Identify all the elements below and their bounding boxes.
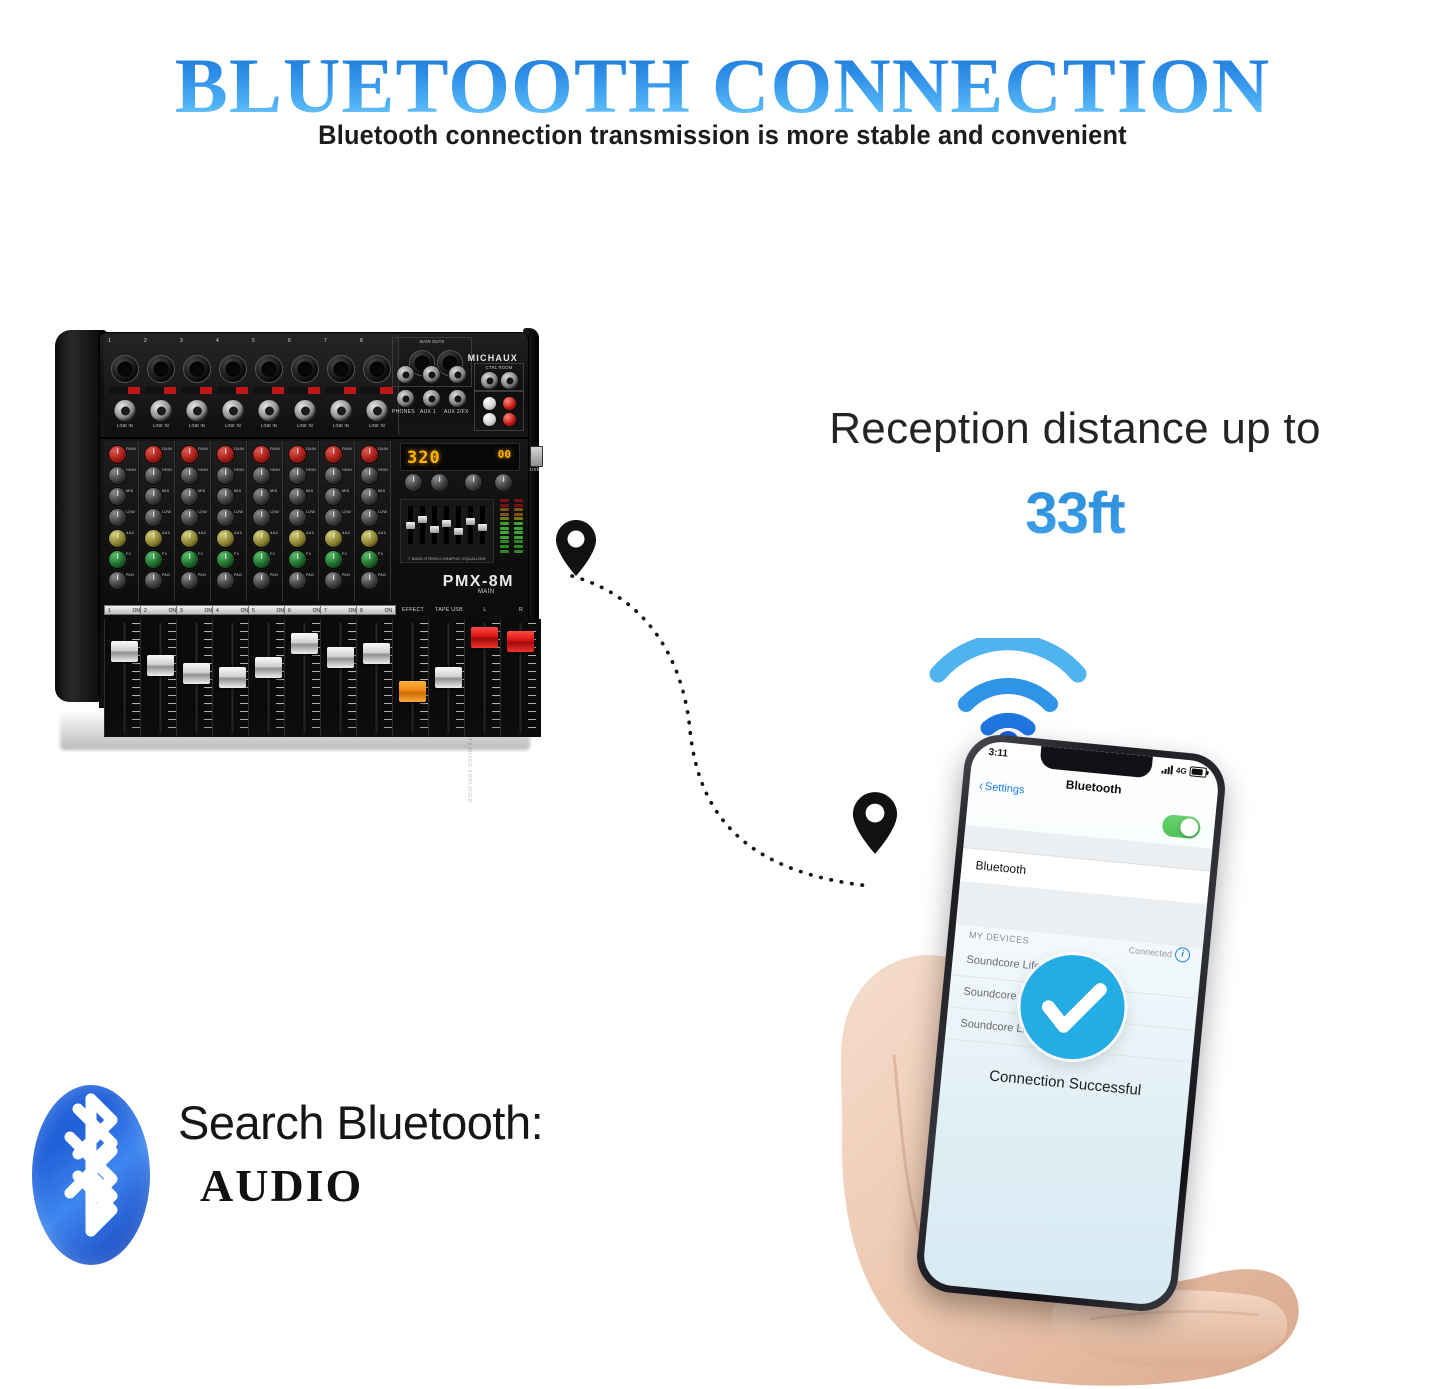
strip-number: 4 xyxy=(216,338,219,344)
knob-fx[interactable] xyxy=(252,550,271,569)
knob-gain[interactable] xyxy=(288,445,307,464)
xlr-input-jack xyxy=(219,355,247,383)
knob-label: AUX xyxy=(198,531,206,535)
line-input-jack xyxy=(114,399,137,422)
knob-low[interactable] xyxy=(144,508,163,527)
search-bluetooth-label: Search Bluetooth: xyxy=(178,1097,658,1149)
mixer-brand-label: MICHAUX xyxy=(468,353,518,363)
ctrl-room-label: CTRL ROOM xyxy=(475,365,523,370)
knob-gain[interactable] xyxy=(180,445,199,464)
knob-label: GAIN xyxy=(198,447,208,451)
knob-label: FX xyxy=(234,552,239,556)
knob-label: PAN xyxy=(378,573,386,577)
eq-band-5[interactable] xyxy=(456,506,461,544)
knob-aux[interactable] xyxy=(144,529,163,548)
channel-knobs-2: GAINHIGHMIDLOWAUXFXPAN xyxy=(140,441,175,601)
mixer-input-panel: 1LINE IN2LINE IN3LINE IN4LINE IN5LINE IN… xyxy=(99,332,529,438)
eq-cap[interactable] xyxy=(478,524,487,531)
knob-gain[interactable] xyxy=(252,445,271,464)
reception-distance-label: Reception distance up to xyxy=(775,404,1375,454)
knob-low[interactable] xyxy=(180,508,199,527)
connected-status: Connected xyxy=(1128,945,1172,959)
fader-cap[interactable] xyxy=(399,681,426,702)
knob-label: LOW xyxy=(198,510,207,514)
knob-label: HIGH xyxy=(234,468,244,472)
eq-cap[interactable] xyxy=(454,528,463,535)
rca-2tk-right xyxy=(502,412,517,427)
bluetooth-toggle[interactable] xyxy=(1161,814,1201,840)
aux2-label: AUX 2/FX xyxy=(444,409,469,415)
knob-label: LOW xyxy=(342,510,351,514)
knob-label: GAIN xyxy=(378,447,388,451)
channel-on-button-4[interactable]: 4ON xyxy=(212,605,252,615)
pad-switch xyxy=(289,387,321,394)
knob-label: AUX xyxy=(126,531,134,535)
strip-number: 2 xyxy=(144,338,147,344)
eq-band-7[interactable] xyxy=(480,506,485,544)
knob-pan[interactable] xyxy=(324,571,343,590)
line-input-jack xyxy=(330,399,353,422)
line-input-jack xyxy=(186,399,209,422)
knob-label: AUX xyxy=(270,531,278,535)
knob-label: FX xyxy=(306,552,311,556)
fader-cap[interactable] xyxy=(471,627,498,648)
knob-low[interactable] xyxy=(324,508,343,527)
eq-band-4[interactable] xyxy=(444,506,449,544)
knob-label: HIGH xyxy=(270,468,280,472)
fader-cap[interactable] xyxy=(219,667,246,688)
knob-fx[interactable] xyxy=(180,550,199,569)
pad-switch xyxy=(325,387,357,394)
ctrl-room-box: CTRL ROOM xyxy=(474,363,524,391)
aux1-jack-b xyxy=(422,365,441,384)
knob-label: GAIN xyxy=(126,447,136,451)
pad-switch xyxy=(361,387,393,394)
channel-knobs-1: GAINHIGHMIDLOWAUXFXPAN xyxy=(104,441,139,601)
knob-mid[interactable] xyxy=(216,487,235,506)
channel-knobs-3: GAINHIGHMIDLOWAUXFXPAN xyxy=(176,441,211,601)
program-knob xyxy=(404,473,423,492)
eq-band-2[interactable] xyxy=(420,506,425,544)
knob-label: PAN xyxy=(126,573,134,577)
channel-knobs-5: GAINHIGHMIDLOWAUXFXPAN xyxy=(248,441,283,601)
knob-low[interactable] xyxy=(360,508,379,527)
knob-label: HIGH xyxy=(162,468,172,472)
pad-switch xyxy=(109,387,141,394)
rca-box xyxy=(474,391,524,431)
fader-cap[interactable] xyxy=(507,631,534,652)
main-label: MAIN xyxy=(478,589,494,595)
knob-label: GAIN xyxy=(342,447,352,451)
channel-knobs-7: GAINHIGHMIDLOWAUXFXPAN xyxy=(320,441,355,601)
knob-mid[interactable] xyxy=(144,487,163,506)
knob-pan[interactable] xyxy=(216,571,235,590)
line-in-label: LINE IN xyxy=(356,423,398,428)
knob-fx[interactable] xyxy=(324,550,343,569)
eq-cap[interactable] xyxy=(430,526,439,533)
knob-label: PAN xyxy=(234,573,242,577)
line-input-jack xyxy=(294,399,317,422)
knob-label: FX xyxy=(162,552,167,556)
knob-high[interactable] xyxy=(180,466,199,485)
knob-label: PAN xyxy=(270,573,278,577)
bluetooth-device-name: AUDIO xyxy=(200,1159,658,1212)
line-input-jack xyxy=(366,399,389,422)
knob-label: MID xyxy=(126,489,134,493)
fader-label: R xyxy=(501,607,541,613)
bluetooth-row-label: Bluetooth xyxy=(975,858,1027,877)
led-main-value: 320 xyxy=(407,448,441,468)
eq-band-3[interactable] xyxy=(432,506,437,544)
map-pin-icon-source xyxy=(555,519,597,577)
pad-switch xyxy=(217,387,249,394)
aux1-jack xyxy=(422,389,441,408)
network-type-label: 4G xyxy=(1176,765,1187,775)
channel-on-button-8[interactable]: 8ON xyxy=(356,605,396,615)
channel-on-button-5[interactable]: 5ON xyxy=(248,605,288,615)
signal-bars-icon xyxy=(1162,764,1174,774)
knob-fx[interactable] xyxy=(108,550,127,569)
page-subtitle: Bluetooth connection transmission is mor… xyxy=(43,120,1401,151)
knob-mid[interactable] xyxy=(324,487,343,506)
vu-meter-right xyxy=(514,499,523,561)
knob-label: PAN xyxy=(162,573,170,577)
knob-label: HIGH xyxy=(342,468,352,472)
knob-label: MID xyxy=(306,489,314,493)
knob-label: LOW xyxy=(270,510,279,514)
knob-low[interactable] xyxy=(252,508,271,527)
knob-gain[interactable] xyxy=(360,445,379,464)
knob-label: MID xyxy=(198,489,206,493)
check-mark-icon xyxy=(1016,950,1129,1063)
knob-pan[interactable] xyxy=(252,571,271,590)
xlr-input-jack xyxy=(363,355,391,383)
usb-label: USB xyxy=(530,467,540,472)
phones-jack xyxy=(396,389,415,408)
channel-on-button-7[interactable]: 7ON xyxy=(320,605,360,615)
xlr-input-jack xyxy=(147,355,175,383)
knob-low[interactable] xyxy=(216,508,235,527)
channel-on-button-1[interactable]: 1ON xyxy=(104,605,144,615)
knob-label: AUX xyxy=(306,531,314,535)
mixer-control-surface: GAINHIGHMIDLOWAUXFXPANGAINHIGHMIDLOWAUXF… xyxy=(99,438,529,708)
knob-pan[interactable] xyxy=(360,571,379,590)
phones-label: PHONES xyxy=(392,409,415,415)
pad-switch xyxy=(253,387,285,394)
strip-number: 1 xyxy=(108,338,111,344)
knob-label: LOW xyxy=(126,510,135,514)
battery-icon xyxy=(1189,766,1207,778)
my-devices-header: MY DEVICES xyxy=(969,930,1030,946)
knob-label: MID xyxy=(342,489,350,493)
knob-high[interactable] xyxy=(216,466,235,485)
fader-cap[interactable] xyxy=(111,641,138,662)
knob-gain[interactable] xyxy=(108,445,127,464)
rca-rec-left xyxy=(482,396,497,411)
knob-label: FX xyxy=(270,552,275,556)
knob-aux[interactable] xyxy=(324,529,343,548)
knob-label: AUX xyxy=(378,531,386,535)
knob-high[interactable] xyxy=(288,466,307,485)
knob-fx[interactable] xyxy=(216,550,235,569)
channel-on-button-2[interactable]: 2ON xyxy=(140,605,180,615)
eq-cap[interactable] xyxy=(466,518,475,525)
knob-label: GAIN xyxy=(270,447,280,451)
knob-aux[interactable] xyxy=(288,529,307,548)
knob-pan[interactable] xyxy=(144,571,163,590)
knob-aux[interactable] xyxy=(360,529,379,548)
fader-label: L xyxy=(465,607,505,613)
chevron-left-icon: ‹ xyxy=(979,778,984,794)
knob-label: AUX xyxy=(342,531,350,535)
channel-on-button-3[interactable]: 3ON xyxy=(176,605,216,615)
knob-aux[interactable] xyxy=(108,529,127,548)
knob-label: PAN xyxy=(342,573,350,577)
strip-number: 5 xyxy=(252,338,255,344)
fader-cap[interactable] xyxy=(147,655,174,676)
knob-label: PAN xyxy=(198,573,206,577)
knob-gain[interactable] xyxy=(216,445,235,464)
rca-2tk-left xyxy=(482,412,497,427)
ctrl-room-jack-l xyxy=(480,371,499,390)
knob-low[interactable] xyxy=(108,508,127,527)
knob-label: FX xyxy=(342,552,347,556)
xlr-input-jack xyxy=(183,355,211,383)
page-title: BLUETOOTH CONNECTION xyxy=(0,44,1445,128)
channel-on-button-6[interactable]: 6ON xyxy=(284,605,324,615)
output-knob xyxy=(430,473,449,492)
knob-label: MID xyxy=(270,489,278,493)
fader-label: TAPE USB xyxy=(429,607,469,613)
knob-mid[interactable] xyxy=(288,487,307,506)
graphic-equalizer: 7 BAND STEREO GRAPHIC EQUALIZER xyxy=(400,499,494,563)
knob-label: FX xyxy=(126,552,131,556)
knob-label: PAN xyxy=(306,573,314,577)
rca-rec-right xyxy=(502,396,517,411)
eq-cap[interactable] xyxy=(418,516,427,523)
xlr-input-jack xyxy=(111,355,139,383)
strip-number: 7 xyxy=(324,338,327,344)
knob-pan[interactable] xyxy=(108,571,127,590)
knob-label: LOW xyxy=(378,510,387,514)
knob-high[interactable] xyxy=(252,466,271,485)
main-outs-label: MAIN OUTS xyxy=(393,339,471,344)
knob-label: FX xyxy=(198,552,203,556)
knob-high[interactable] xyxy=(108,466,127,485)
fader-cap[interactable] xyxy=(291,633,318,654)
knob-pan[interactable] xyxy=(288,571,307,590)
knob-mid[interactable] xyxy=(180,487,199,506)
strip-number: 8 xyxy=(360,338,363,344)
fader-cap[interactable] xyxy=(255,657,282,678)
pad-switch xyxy=(181,387,213,394)
knob-mid[interactable] xyxy=(108,487,127,506)
knob-label: HIGH xyxy=(306,468,316,472)
vu-meter-left xyxy=(500,499,509,561)
mic-echo-knob xyxy=(494,473,513,492)
usb-port xyxy=(530,446,543,467)
knob-gain[interactable] xyxy=(144,445,163,464)
knob-label: GAIN xyxy=(162,447,172,451)
line-input-jack xyxy=(150,399,173,422)
knob-label: HIGH xyxy=(198,468,208,472)
info-icon[interactable]: i xyxy=(1174,947,1190,963)
strip-number: 3 xyxy=(180,338,183,344)
knob-pan[interactable] xyxy=(180,571,199,590)
line-input-jack xyxy=(222,399,245,422)
knob-label: AUX xyxy=(162,531,170,535)
knob-label: GAIN xyxy=(234,447,244,451)
knob-label: MID xyxy=(234,489,242,493)
fader-label: EFFECT xyxy=(393,607,433,613)
eq-cap[interactable] xyxy=(406,522,415,529)
knob-label: HIGH xyxy=(378,468,388,472)
phone-screen: 3:11 4G Bluetooth ‹Settings Bluetooth xyxy=(921,739,1220,1306)
channel-knobs-8: GAINHIGHMIDLOWAUXFXPAN xyxy=(356,441,391,601)
eq-band-1[interactable] xyxy=(408,506,413,544)
knob-label: HIGH xyxy=(126,468,136,472)
ctrl-room-jack-r xyxy=(500,371,519,390)
preset-knob xyxy=(464,473,483,492)
connection-success-overlay: Connection Successful xyxy=(937,943,1201,1146)
knob-label: GAIN xyxy=(306,447,316,451)
fader-cap[interactable] xyxy=(183,663,210,684)
fader-cap[interactable] xyxy=(363,643,390,664)
phones-jack-b xyxy=(396,365,415,384)
pad-switch xyxy=(145,387,177,394)
knob-label: MID xyxy=(378,489,386,493)
strip-number: 6 xyxy=(288,338,291,344)
knob-label: LOW xyxy=(162,510,171,514)
aux2-jack xyxy=(448,389,467,408)
xlr-input-jack xyxy=(291,355,319,383)
eq-cap[interactable] xyxy=(442,520,451,527)
reception-distance-value: 33ft xyxy=(775,480,1375,547)
channel-knobs-4: GAINHIGHMIDLOWAUXFXPAN xyxy=(212,441,247,601)
channel-knobs-6: GAINHIGHMIDLOWAUXFXPAN xyxy=(284,441,319,601)
search-bluetooth-block: Search Bluetooth: AUDIO xyxy=(30,1085,670,1275)
back-label: Settings xyxy=(984,781,1025,797)
knob-label: LOW xyxy=(234,510,243,514)
knob-gain[interactable] xyxy=(324,445,343,464)
mixer-console-image: 1LINE IN2LINE IN3LINE IN4LINE IN5LINE IN… xyxy=(55,318,535,718)
line-input-jack xyxy=(258,399,281,422)
fader-cap[interactable] xyxy=(327,647,354,668)
bluetooth-icon xyxy=(32,1085,150,1265)
eq-caption: 7 BAND STEREO GRAPHIC EQUALIZER xyxy=(401,557,493,561)
connection-success-text: Connection Successful xyxy=(941,1063,1189,1104)
knob-label: FX xyxy=(378,552,383,556)
knob-mid[interactable] xyxy=(252,487,271,506)
aux2-jack-b xyxy=(448,365,467,384)
knob-aux[interactable] xyxy=(216,529,235,548)
knob-aux[interactable] xyxy=(252,529,271,548)
aux1-label: AUX 1 xyxy=(420,409,436,415)
knob-mid[interactable] xyxy=(360,487,379,506)
knob-aux[interactable] xyxy=(180,529,199,548)
led-display: 320 00 xyxy=(400,443,520,471)
knob-label: AUX xyxy=(234,531,242,535)
knob-fx[interactable] xyxy=(360,550,379,569)
smartphone: 3:11 4G Bluetooth ‹Settings Bluetooth xyxy=(914,732,1228,1315)
knob-label: MID xyxy=(162,489,170,493)
led-small-value: 00 xyxy=(498,448,511,461)
knob-low[interactable] xyxy=(288,508,307,527)
xlr-input-jack xyxy=(327,355,355,383)
knob-fx[interactable] xyxy=(144,550,163,569)
phone-in-hand-scene: 3:11 4G Bluetooth ‹Settings Bluetooth xyxy=(840,735,1360,1389)
knob-high[interactable] xyxy=(324,466,343,485)
status-time: 3:11 xyxy=(988,747,1008,760)
knob-high[interactable] xyxy=(144,466,163,485)
knob-label: LOW xyxy=(306,510,315,514)
mixer-reflection xyxy=(60,710,530,750)
fader-cap[interactable] xyxy=(435,667,462,688)
knob-fx[interactable] xyxy=(288,550,307,569)
eq-band-6[interactable] xyxy=(468,506,473,544)
xlr-input-jack xyxy=(255,355,283,383)
knob-high[interactable] xyxy=(360,466,379,485)
